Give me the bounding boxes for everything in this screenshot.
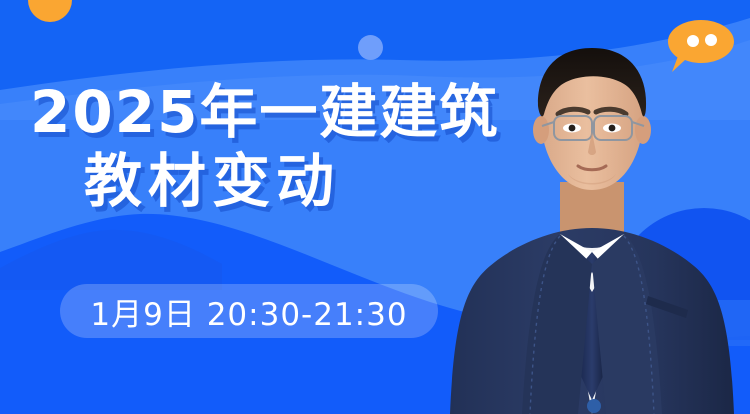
schedule-text: 1月9日 20:30-21:30 — [90, 289, 407, 334]
promo-poster: 2025年一建建筑 教材变动 1月9日 20:30-21:30 — [0, 0, 750, 414]
headline-block: 2025年一建建筑 教材变动 — [0, 78, 540, 216]
title-line-1: 2025年一建建筑 — [0, 78, 540, 146]
title-line-2: 教材变动 — [0, 146, 540, 216]
schedule-badge: 1月9日 20:30-21:30 — [60, 284, 438, 338]
light-blue-circle-icon — [358, 35, 383, 60]
